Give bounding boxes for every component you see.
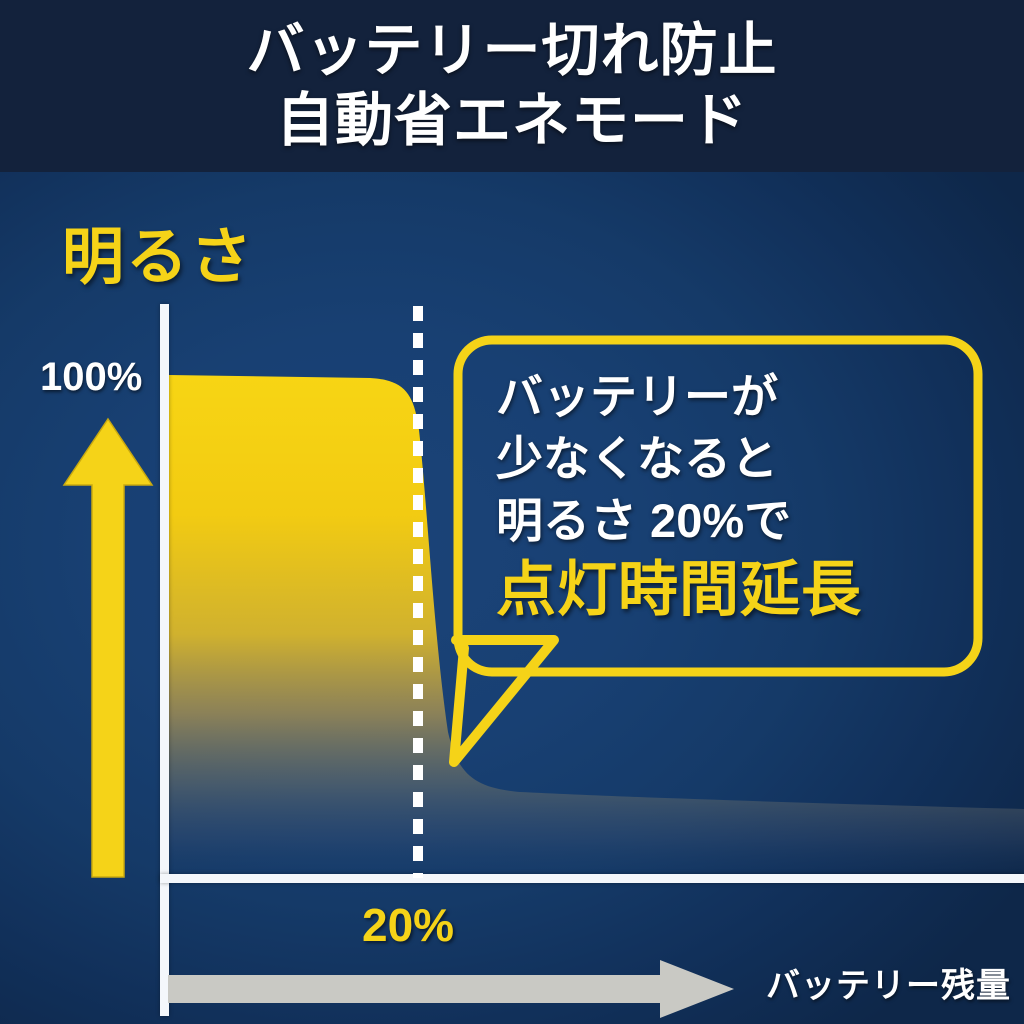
x-axis-tick-label: 20% (362, 898, 454, 952)
callout-bubble: バッテリーが 少なくなると 明るさ 20%で 点灯時間延長 (452, 334, 984, 678)
y-axis-tick-label: 100% (40, 355, 142, 400)
y-axis-title: 明るさ (62, 206, 254, 296)
header-band: バッテリー切れ防止 自動省エネモード (0, 0, 1024, 172)
callout-text-block: バッテリーが 少なくなると 明るさ 20%で 点灯時間延長 (496, 366, 966, 626)
callout-line-3: 明るさ 20%で (496, 490, 966, 552)
y-axis-line (160, 304, 169, 1016)
callout-line-1: バッテリーが (496, 366, 966, 428)
x-axis-title: バッテリー残量 (766, 958, 1011, 1007)
speech-bubble-tail-icon (442, 634, 602, 774)
callout-line-2: 少なくなると (496, 428, 966, 490)
callout-emphasis-line: 点灯時間延長 (496, 554, 966, 626)
page-title: バッテリー切れ防止 自動省エネモード (0, 16, 1024, 156)
arrow-up-icon (60, 415, 156, 881)
arrow-right-icon (168, 958, 738, 1020)
x-axis-line (160, 874, 1024, 883)
infographic-canvas: バッテリーが 少なくなると 明るさ 20%で 点灯時間延長 明るさ 100% 2… (0, 0, 1024, 1024)
threshold-dashed-line (413, 306, 423, 878)
